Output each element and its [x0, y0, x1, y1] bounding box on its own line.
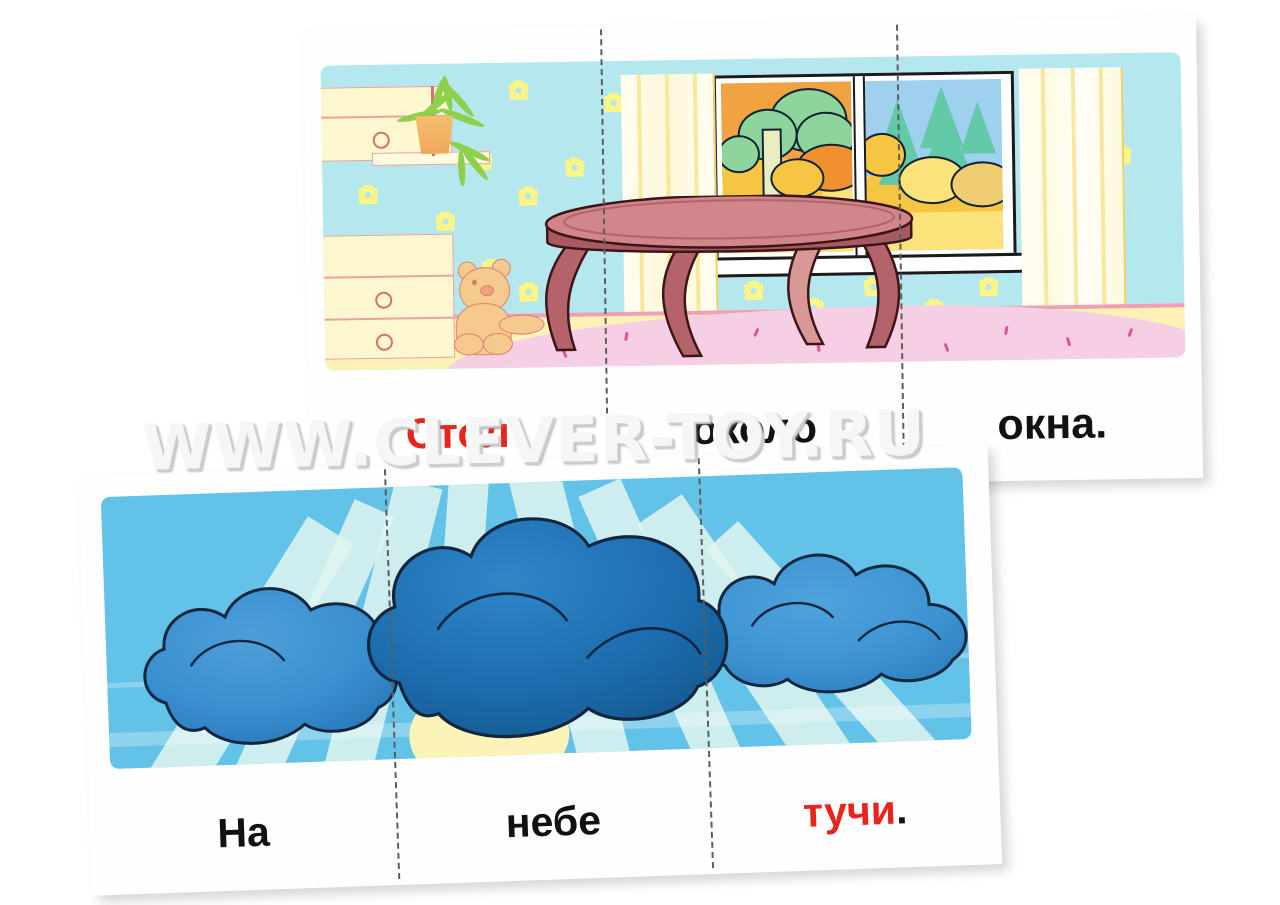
- cloud-center: [350, 503, 736, 746]
- wallpaper-flower-icon: [358, 185, 377, 204]
- card-clouds[interactable]: На небе тучи.: [78, 444, 1002, 896]
- word-punctuation: .: [1095, 399, 1108, 448]
- wallpaper-flower-icon: [979, 277, 998, 296]
- word-segment[interactable]: около: [691, 403, 817, 454]
- card-clouds-sentence: На небе тучи.: [89, 766, 1001, 878]
- word-punctuation: .: [895, 786, 908, 833]
- clouds-picture: [101, 467, 972, 769]
- word-segment[interactable]: окна.: [997, 399, 1107, 450]
- word-segment[interactable]: Стол: [405, 408, 510, 459]
- curtain-right: [1019, 67, 1127, 341]
- dresser-lower: [321, 234, 456, 360]
- wallpaper-flower-icon: [509, 80, 528, 99]
- word-segment[interactable]: На: [217, 808, 271, 857]
- word-segment[interactable]: тучи.: [802, 786, 908, 837]
- word-text: окна: [997, 399, 1095, 450]
- wallpaper-flower-icon: [565, 158, 584, 177]
- room-picture: [321, 52, 1186, 370]
- flower-pot: [415, 116, 454, 155]
- round-table: [529, 192, 932, 368]
- wallpaper-flower-icon: [436, 212, 455, 231]
- card-room[interactable]: Стол около окна.: [303, 16, 1203, 492]
- word-text: тучи: [802, 786, 897, 836]
- word-segment[interactable]: небе: [505, 796, 602, 846]
- screenshot-stage: Стол около окна.: [0, 0, 1280, 905]
